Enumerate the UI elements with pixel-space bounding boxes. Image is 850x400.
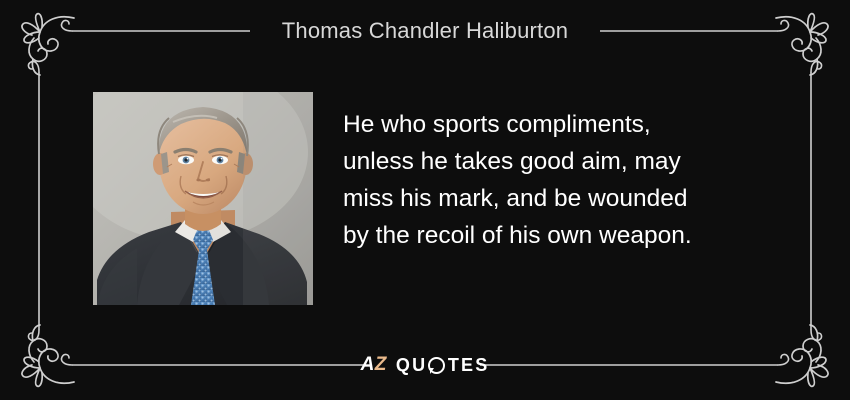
logo-letter-a: A bbox=[361, 355, 375, 375]
logo-letter-z: Z bbox=[375, 355, 387, 375]
az-quotes-logo[interactable]: A Z QU TES bbox=[0, 353, 850, 377]
logo-word-suffix: TES bbox=[448, 355, 490, 375]
rule-cap-left-top bbox=[28, 61, 39, 72]
quote-text: He who sports compliments, unless he tak… bbox=[343, 106, 775, 254]
author-portrait bbox=[93, 92, 313, 305]
portrait-illustration bbox=[93, 92, 313, 305]
quote-line: unless he takes good aim, may bbox=[343, 143, 775, 180]
speech-bubble-icon bbox=[428, 357, 445, 374]
quote-line: by the recoil of his own weapon. bbox=[343, 217, 775, 254]
rule-cap-right-bottom bbox=[811, 330, 822, 341]
quote-card: Thomas Chandler Haliburton bbox=[0, 0, 850, 400]
rule-cap-left-bottom bbox=[28, 330, 39, 341]
rule-cap-right-top bbox=[811, 61, 822, 72]
quote-line: He who sports compliments, bbox=[343, 106, 775, 143]
quote-line: miss his mark, and be wounded bbox=[343, 180, 775, 217]
logo-word-prefix: QU bbox=[396, 355, 427, 375]
author-name: Thomas Chandler Haliburton bbox=[0, 16, 850, 46]
